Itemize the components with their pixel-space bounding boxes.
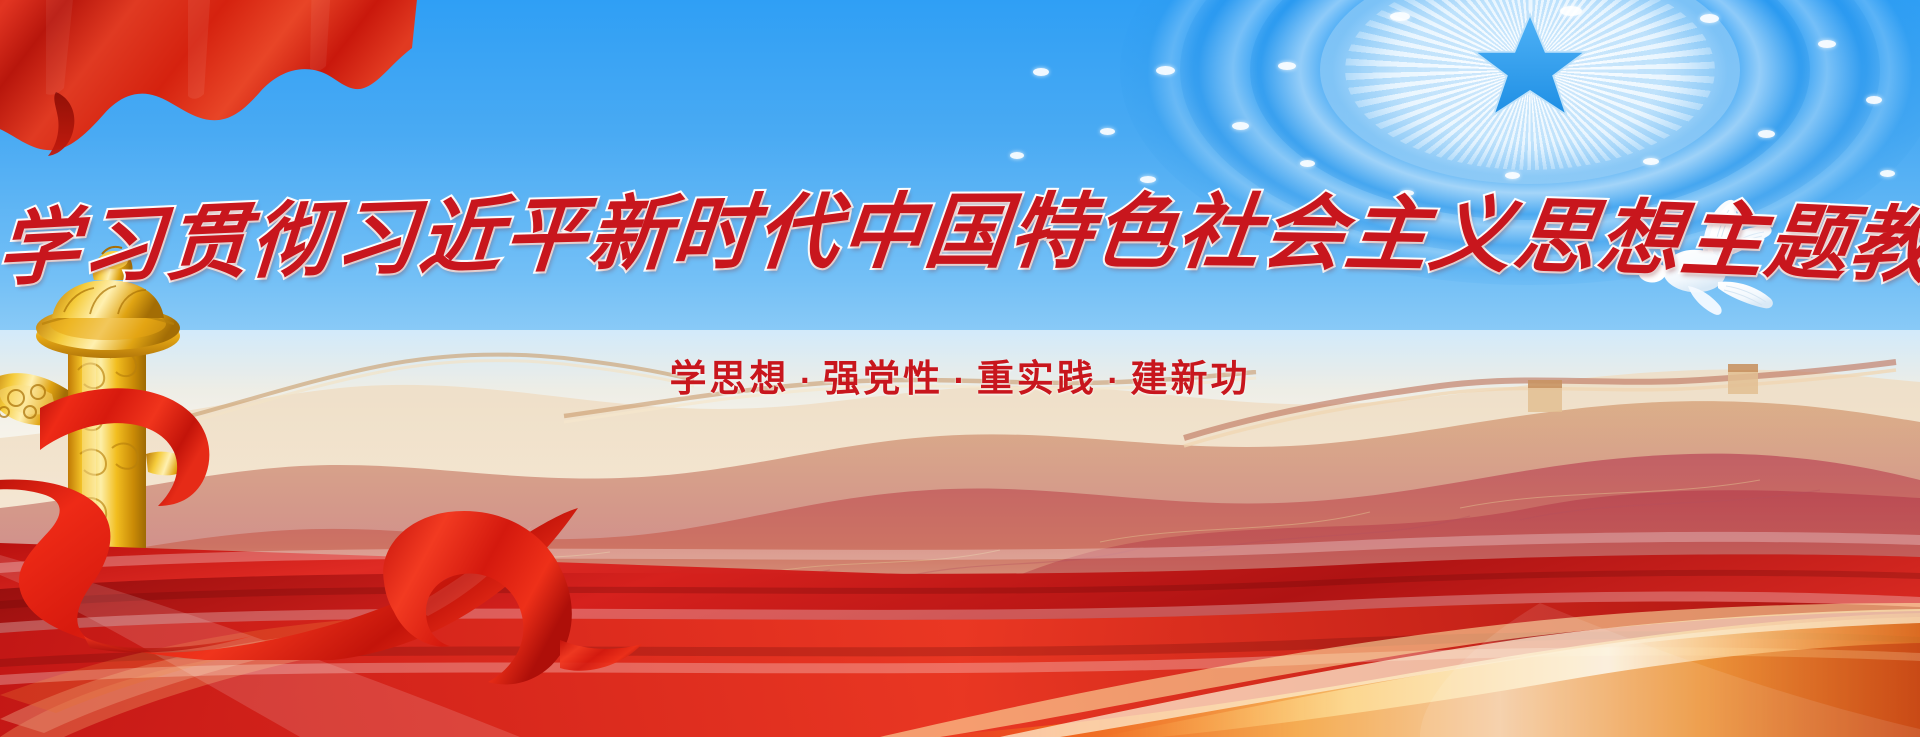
- title-char: 彻: [247, 187, 338, 295]
- sky-dot: [1033, 68, 1049, 76]
- title-char: 特: [1004, 180, 1099, 285]
- bottom-red-wave-band: [0, 437, 1920, 737]
- sky-dot: [1700, 14, 1719, 23]
- sky-dot: [1010, 152, 1024, 159]
- sky-dot: [1818, 40, 1836, 48]
- sky-dot: [1560, 6, 1582, 16]
- title-char: 教: [1843, 191, 1920, 300]
- sky-dot: [1758, 130, 1775, 138]
- title-char: 色: [1088, 180, 1184, 286]
- title-char: 平: [500, 183, 593, 290]
- five-pointed-star-icon: [1464, 1, 1596, 133]
- sky-dot: [1880, 170, 1895, 177]
- title-char: 新: [584, 182, 677, 289]
- title-char: 义: [1424, 183, 1521, 290]
- sky-dot: [1390, 12, 1410, 21]
- sky-dot: [1300, 160, 1315, 167]
- sky-dot: [1232, 122, 1249, 130]
- title-char: 中: [836, 180, 930, 286]
- title-char: 社: [1172, 180, 1268, 286]
- sky-dot: [1643, 158, 1659, 165]
- sky-dot: [1156, 66, 1175, 75]
- title-char: 代: [752, 180, 846, 286]
- burst-ring-2: [1250, 0, 1810, 220]
- red-flag: [0, 0, 420, 190]
- title-char: 时: [668, 181, 761, 287]
- burst-ring-outer: [1120, 0, 1920, 285]
- title-char: 会: [1256, 181, 1353, 287]
- sky-dot: [1100, 128, 1115, 135]
- sky-dot: [1140, 176, 1156, 183]
- banner-canvas: 学习贯彻习近平新时代中国特色社会主义思想主题教育 学思想·强党性·重实践·建新功: [0, 0, 1920, 737]
- burst-ring-inner: [1320, 0, 1740, 184]
- white-dove: [1630, 190, 1800, 325]
- sky-dot: [1505, 172, 1520, 179]
- title-char: 近: [416, 184, 508, 291]
- burst-rays: [1345, 0, 1715, 170]
- sky-dot: [1866, 96, 1882, 104]
- sky-dot: [1278, 62, 1296, 70]
- sky-dot: [1400, 190, 1414, 196]
- title-char: 国: [920, 180, 1015, 285]
- title-char: 主: [1340, 182, 1437, 289]
- title-char: 习: [331, 185, 423, 293]
- title-char: 思: [1508, 184, 1606, 291]
